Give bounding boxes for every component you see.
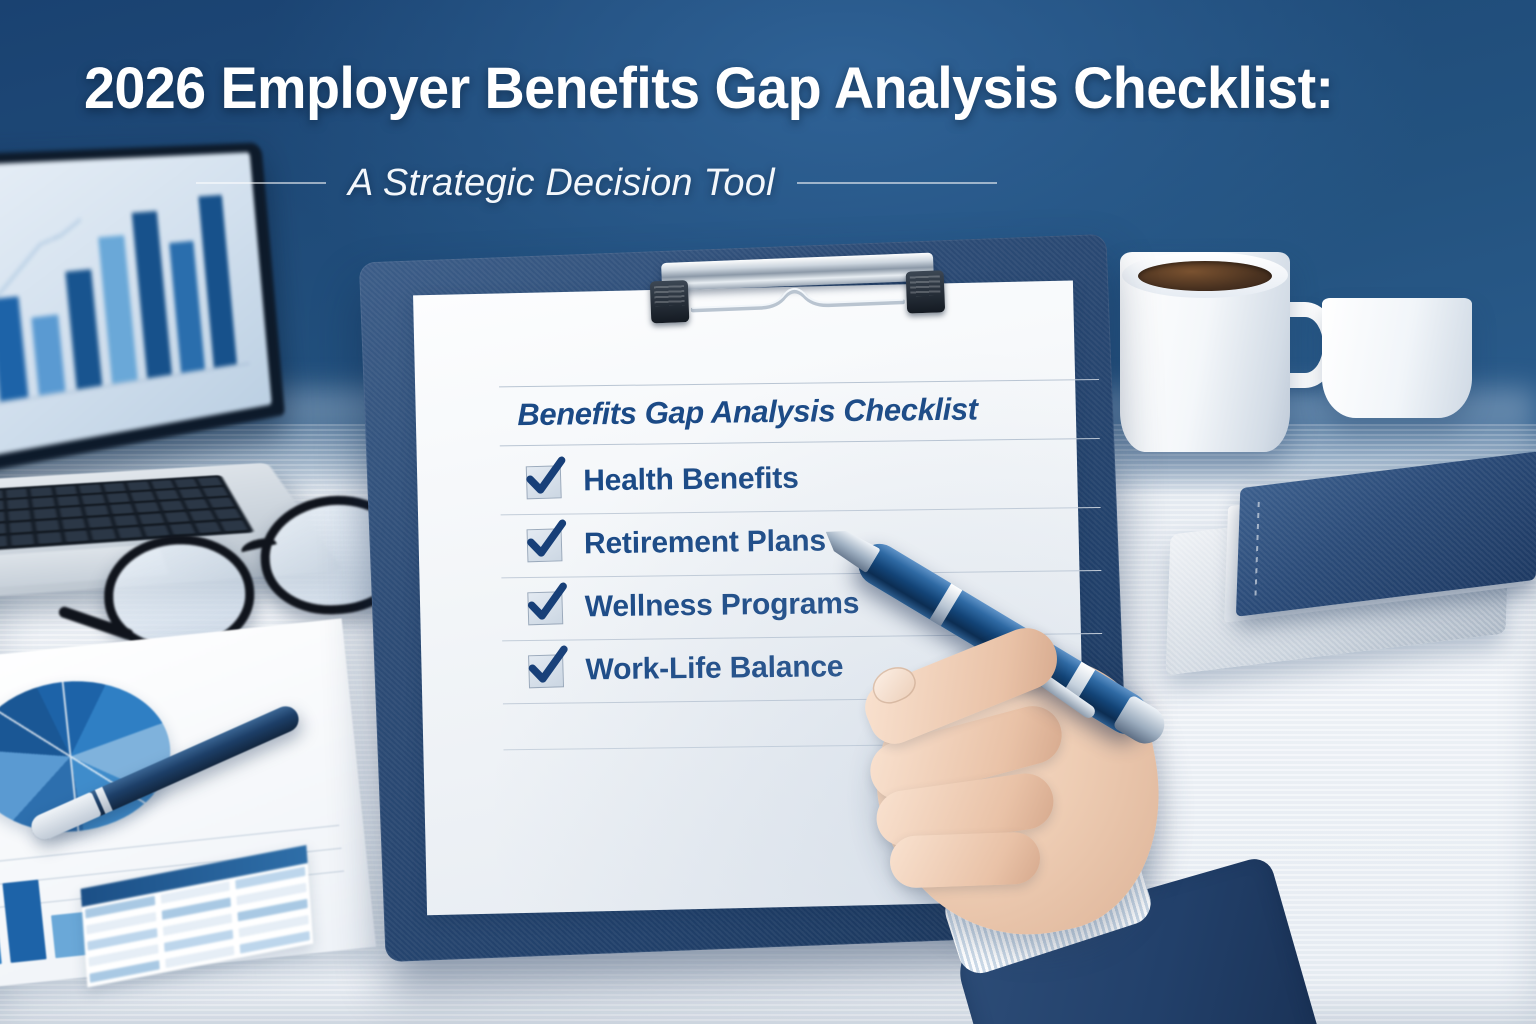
checklist-item[interactable]: Retirement Plans <box>501 508 1102 578</box>
hand-holding-pen <box>852 596 1322 1024</box>
clip-jaw-left <box>650 280 690 323</box>
hand-pinky-finger <box>889 831 1041 888</box>
checklist-document-title: Benefits Gap Analysis Checklist <box>499 379 1100 446</box>
scene-root: Benefits Gap Analysis Checklist Health B… <box>0 0 1536 1024</box>
checklist-item-label: Health Benefits <box>583 462 799 499</box>
checkbox-wellness-programs[interactable] <box>527 591 563 625</box>
page-title: 2026 Employer Benefits Gap Analysis Chec… <box>84 58 1361 119</box>
checklist-item-label: Retirement Plans <box>584 524 826 561</box>
checklist-item[interactable]: Health Benefits <box>500 445 1101 515</box>
checkbox-health-benefits[interactable] <box>526 465 562 499</box>
subtitle-row: A Strategic Decision Tool <box>84 160 1424 206</box>
notebook-stitching <box>1254 502 1259 597</box>
report-paper-pie <box>0 618 376 991</box>
page-subtitle: A Strategic Decision Tool <box>326 162 797 205</box>
bar <box>2 880 46 963</box>
check-icon <box>523 582 570 627</box>
checklist-item-label: Wellness Programs <box>585 587 860 624</box>
coffee-mug <box>1120 238 1320 453</box>
plant-pot <box>1322 298 1472 418</box>
bar <box>0 296 28 402</box>
clip-wire <box>690 284 905 318</box>
bar <box>65 269 103 390</box>
mug-body <box>1120 252 1290 452</box>
clip-jaw-right <box>906 270 946 313</box>
subtitle-rule-right <box>797 182 997 184</box>
check-icon <box>522 519 569 564</box>
check-icon <box>521 456 568 501</box>
clipboard-clip[interactable] <box>637 244 960 342</box>
bar <box>99 236 138 385</box>
pen-ring-upper <box>930 583 963 626</box>
bar <box>0 909 2 967</box>
coffee-liquid <box>1138 261 1272 291</box>
checkbox-retirement-plans[interactable] <box>527 528 563 562</box>
check-icon <box>524 645 571 690</box>
bar <box>169 241 205 374</box>
bar <box>132 211 172 379</box>
bar <box>31 315 66 396</box>
header-banner: 2026 Employer Benefits Gap Analysis Chec… <box>0 0 1536 230</box>
subtitle-rule-left <box>196 182 326 184</box>
checkbox-work-life-balance[interactable] <box>528 654 564 688</box>
checklist-item-label: Work-Life Balance <box>585 650 843 687</box>
